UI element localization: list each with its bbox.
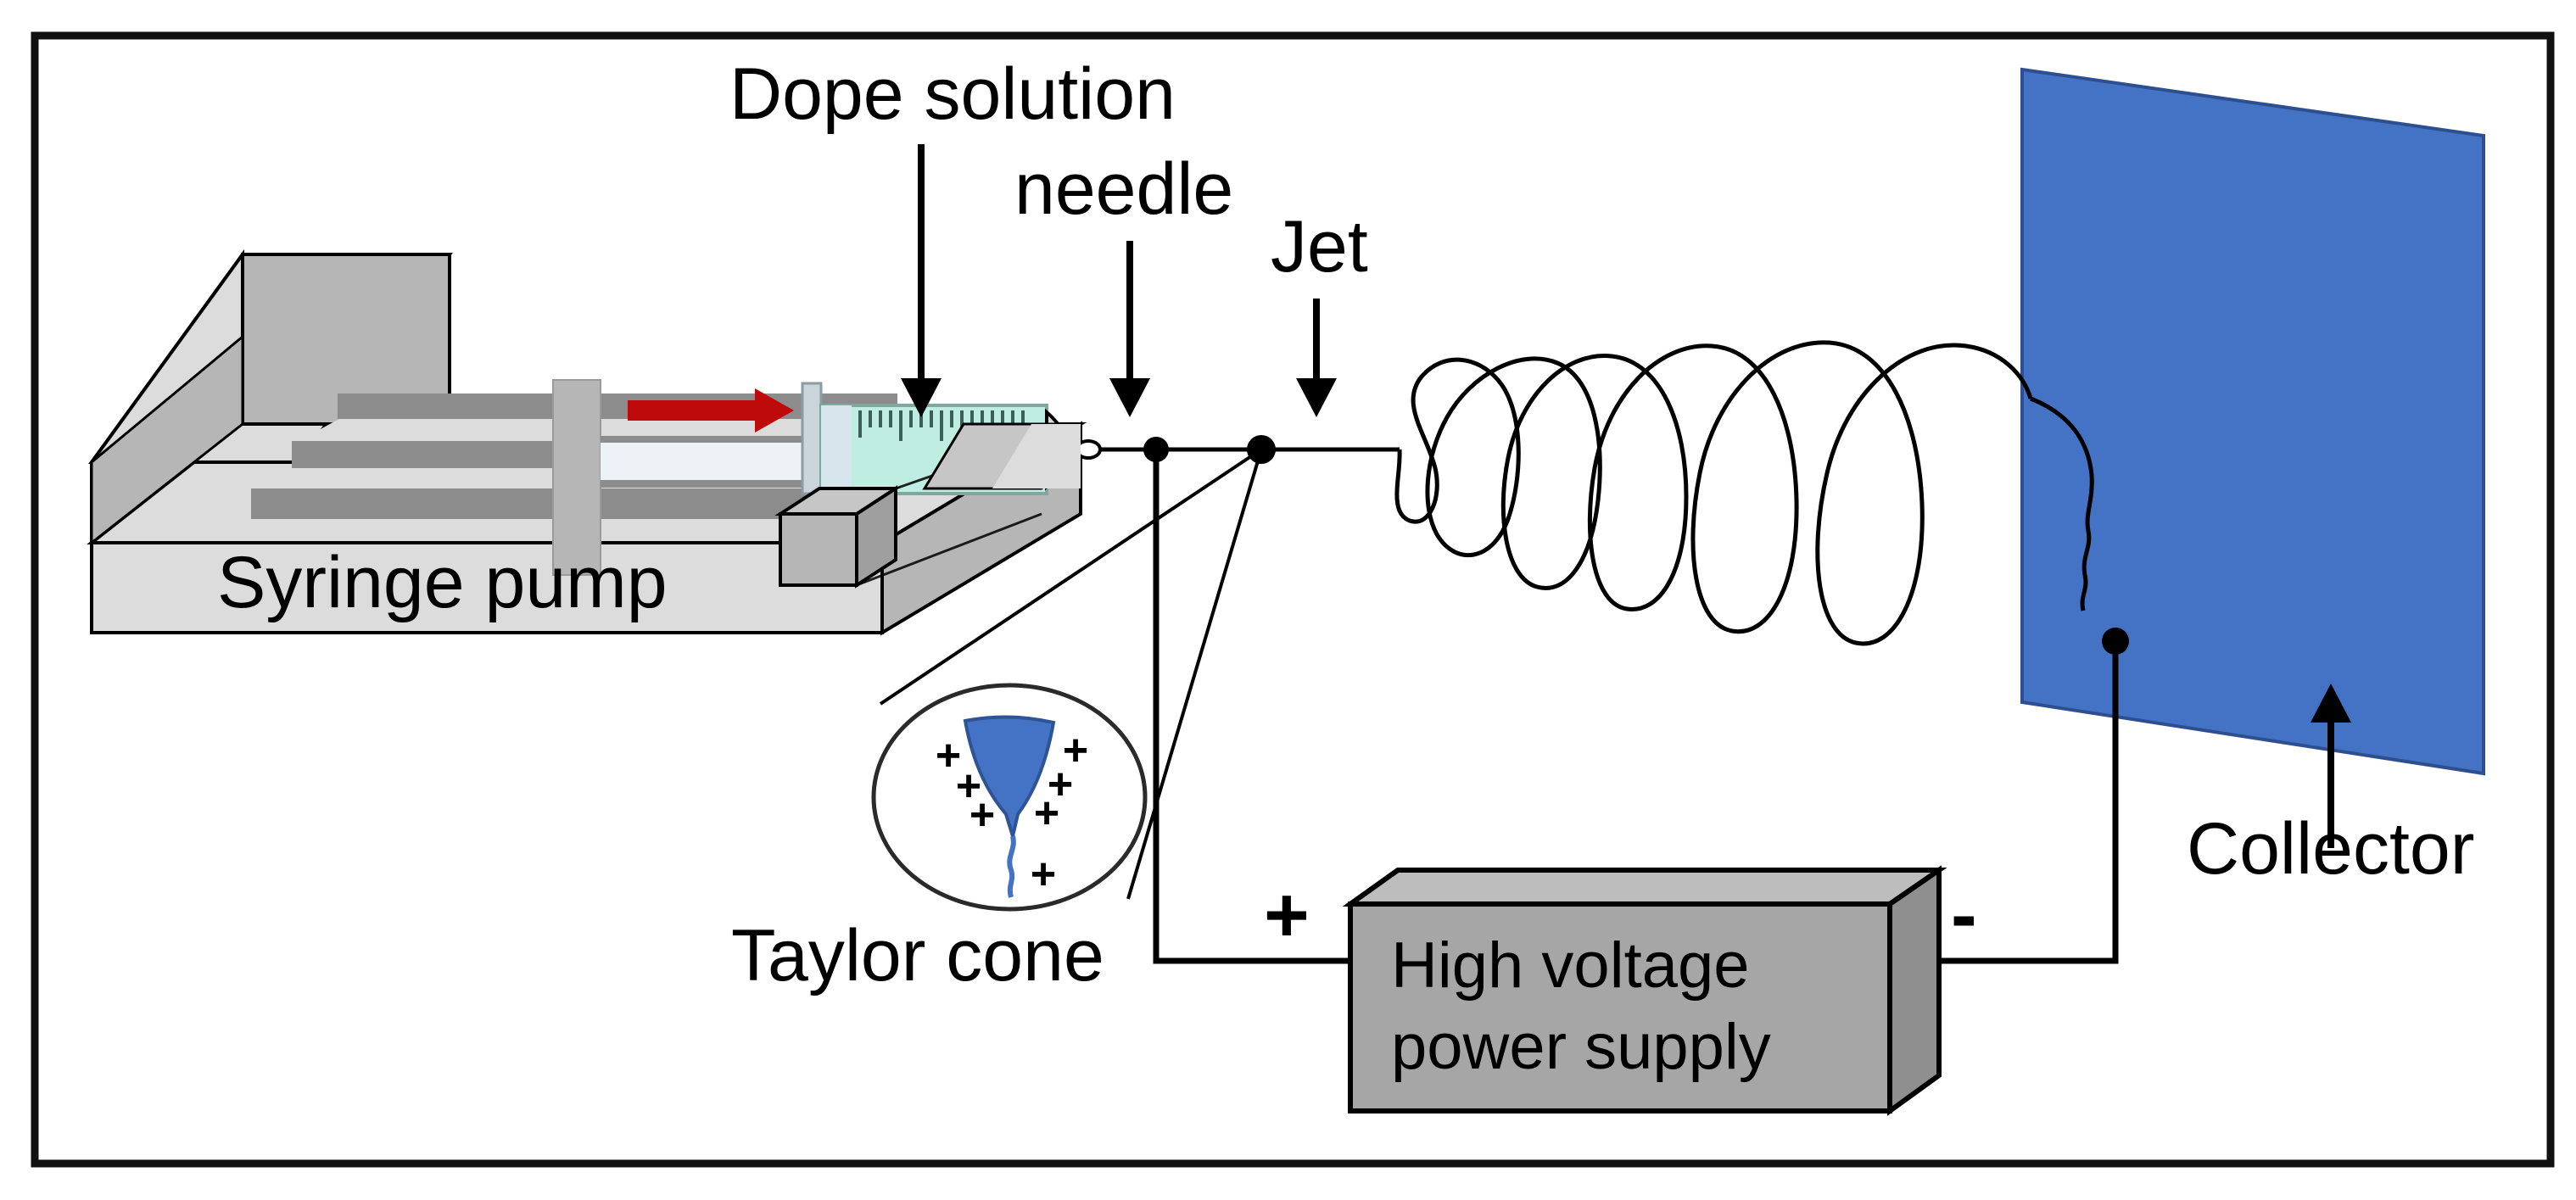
power-supply-label-line2: power supply xyxy=(1391,1011,1771,1083)
diagram-canvas: Syringe pump Dope solution needle xyxy=(0,0,2576,1200)
syringe-pump-label: Syringe pump xyxy=(217,542,668,623)
power-supply-label-line1: High voltage xyxy=(1391,929,1750,1002)
needle-label: needle xyxy=(1014,148,1233,230)
charge-symbol: + xyxy=(1034,789,1059,838)
collector-contact-dot xyxy=(2102,628,2129,655)
taylor-cone-label: Taylor cone xyxy=(731,915,1104,996)
high-voltage-power-supply: High voltage power supply + - xyxy=(1264,870,1977,1111)
collector-plate xyxy=(2022,70,2484,773)
electrospinning-diagram: Syringe pump Dope solution needle xyxy=(0,0,2576,1200)
dope-solution-label: Dope solution xyxy=(729,53,1176,135)
charge-symbol: + xyxy=(969,790,995,840)
negative-terminal-label: - xyxy=(1951,872,1977,958)
positive-terminal-label: + xyxy=(1264,872,1310,958)
charge-symbol: + xyxy=(1031,850,1056,899)
power-supply-top-face xyxy=(1350,870,1939,904)
power-supply-side-face xyxy=(1890,870,1939,1111)
syringe-clamp-front xyxy=(780,514,857,585)
syringe-barrel-air-gap xyxy=(821,405,852,494)
syringe-flange xyxy=(802,383,821,494)
jet-label: Jet xyxy=(1271,206,1368,287)
collector-label: Collector xyxy=(2187,808,2474,890)
